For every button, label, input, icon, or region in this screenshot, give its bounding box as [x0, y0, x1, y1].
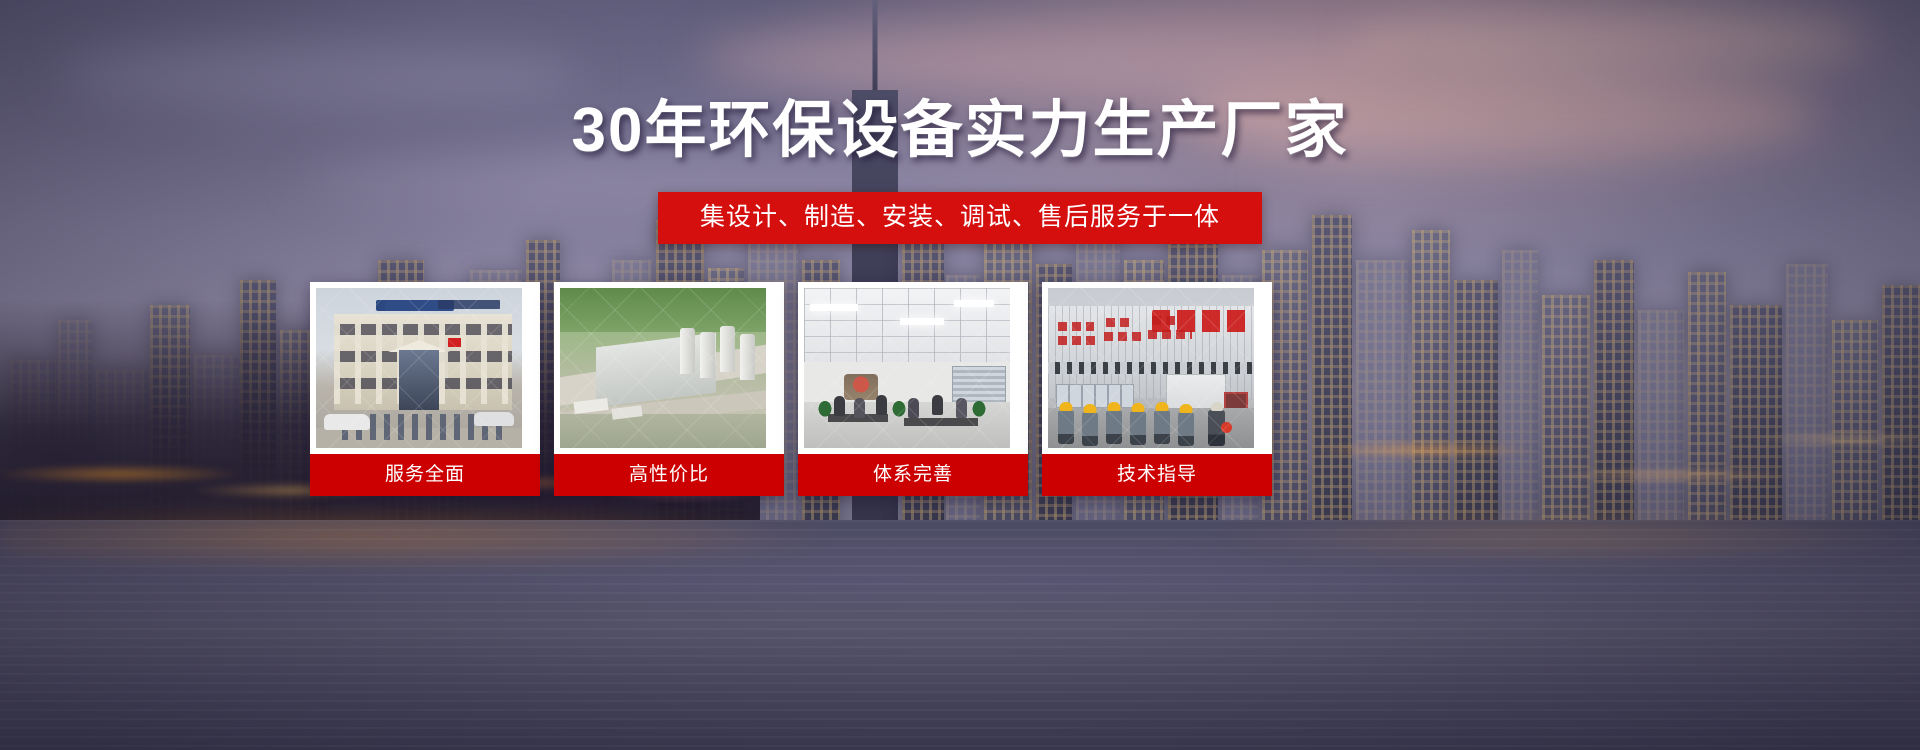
feature-card-caption: 高性价比	[554, 454, 784, 496]
wall-logo	[844, 374, 878, 400]
feature-card[interactable]: 高性价比	[554, 282, 784, 496]
worker	[1106, 410, 1122, 444]
feature-card[interactable]: 技术指导	[1042, 282, 1272, 496]
feature-card[interactable]: 体系完善	[798, 282, 1028, 496]
tower-spire	[873, 0, 878, 90]
page-title: 30年环保设备实力生产厂家	[0, 100, 1920, 162]
car	[324, 414, 370, 430]
subtitle-banner: 集设计、制造、安装、调试、售后服务于一体	[658, 192, 1262, 244]
office-interior-staff-photo	[804, 288, 1010, 448]
factory-workers-photo	[1048, 288, 1254, 448]
feature-card-caption: 体系完善	[798, 454, 1028, 496]
worker	[1058, 410, 1074, 444]
feature-card[interactable]: 服务全面	[310, 282, 540, 496]
feature-card-caption: 技术指导	[1042, 454, 1272, 496]
phone-number-sign	[438, 300, 500, 309]
supervisor	[1208, 410, 1225, 446]
aerial-factory-plant-photo	[560, 288, 766, 448]
water-reflection-glow	[0, 505, 1920, 585]
feature-card-caption: 服务全面	[310, 454, 540, 496]
flag-icon	[445, 336, 448, 378]
worker	[1178, 412, 1194, 446]
worker	[1130, 411, 1146, 445]
subtitle-wrap: 集设计、制造、安装、调试、售后服务于一体	[0, 192, 1920, 244]
worker	[1082, 412, 1098, 446]
company-office-building-photo	[316, 288, 522, 448]
worker	[1154, 410, 1170, 444]
hero-banner: 30年环保设备实力生产厂家 集设计、制造、安装、调试、售后服务于一体 服务全面	[0, 0, 1920, 750]
car	[474, 412, 514, 426]
feature-card-list: 服务全面 高性价比	[310, 282, 1272, 496]
